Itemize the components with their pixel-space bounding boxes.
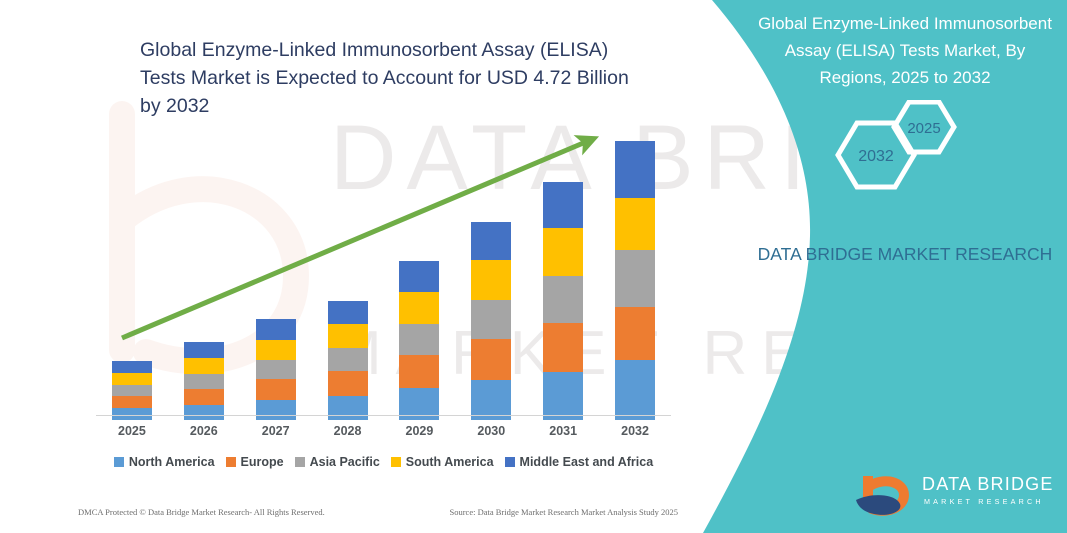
bar-segment [328, 324, 368, 348]
bar-segment [471, 300, 511, 339]
bar-stack [112, 361, 152, 420]
bar-column [240, 125, 312, 420]
bar-stack [399, 261, 439, 420]
bar-segment [543, 372, 583, 420]
bar-segment [543, 182, 583, 228]
x-axis-tick-label: 2032 [599, 424, 671, 438]
bar-segment [112, 385, 152, 396]
bar-segment [471, 339, 511, 380]
left-content: Global Enzyme-Linked Immunosorbent Assay… [0, 0, 700, 533]
legend-swatch-icon [505, 457, 515, 467]
panel-title: Global Enzyme-Linked Immunosorbent Assay… [755, 10, 1055, 91]
bar-segment [184, 358, 224, 374]
bar-segment [256, 340, 296, 360]
bar-segment [184, 342, 224, 358]
legend-item[interactable]: Asia Pacific [295, 455, 380, 469]
x-axis-tick-label: 2027 [240, 424, 312, 438]
bar-segment [543, 323, 583, 372]
x-axis-labels: 20252026202720282029203020312032 [96, 424, 671, 438]
bar-stack [615, 141, 655, 420]
bar-segment [615, 250, 655, 307]
bar-segment [184, 374, 224, 389]
bar-segment [543, 276, 583, 323]
legend-label: Europe [241, 455, 284, 469]
bar-segment [471, 260, 511, 300]
bar-segment [256, 379, 296, 400]
x-axis-tick-label: 2031 [527, 424, 599, 438]
legend-label: Middle East and Africa [520, 455, 654, 469]
legend-label: North America [129, 455, 215, 469]
legend-label: South America [406, 455, 494, 469]
x-axis-tick-label: 2025 [96, 424, 168, 438]
bar-segment [399, 324, 439, 355]
bar-segment [184, 389, 224, 405]
bar-segment [112, 361, 152, 373]
bar-segment [328, 396, 368, 420]
x-axis-tick-label: 2026 [168, 424, 240, 438]
bar-segment [112, 408, 152, 420]
x-axis-tick-label: 2029 [384, 424, 456, 438]
bar-column [527, 125, 599, 420]
bar-column [312, 125, 384, 420]
bar-column [96, 125, 168, 420]
bar-segment [112, 373, 152, 385]
footer-copyright: DMCA Protected © Data Bridge Market Rese… [78, 507, 325, 517]
bar-segment [184, 405, 224, 420]
bar-columns [96, 125, 671, 420]
footer-source: Source: Data Bridge Market Research Mark… [449, 507, 678, 517]
bar-segment [471, 222, 511, 260]
year-hexagon-group: 2032 2025 [800, 100, 1050, 210]
bar-stack [543, 182, 583, 420]
legend-swatch-icon [295, 457, 305, 467]
bar-segment [328, 348, 368, 371]
bar-stack [184, 342, 224, 420]
footer-bar: DMCA Protected © Data Bridge Market Rese… [78, 507, 678, 517]
logo-primary-text: DATA BRIDGE [922, 474, 1054, 495]
bar-segment [112, 396, 152, 408]
bar-segment [256, 360, 296, 379]
legend-item[interactable]: Europe [226, 455, 284, 469]
bar-segment [256, 400, 296, 420]
x-axis-line [96, 415, 671, 416]
bar-segment [615, 307, 655, 360]
legend-swatch-icon [114, 457, 124, 467]
legend-label: Asia Pacific [310, 455, 380, 469]
bar-segment [328, 301, 368, 324]
bar-segment [256, 319, 296, 340]
legend-swatch-icon [226, 457, 236, 467]
bar-stack [471, 222, 511, 420]
bar-column [599, 125, 671, 420]
bar-stack [328, 301, 368, 420]
chart-legend: North AmericaEuropeAsia PacificSouth Ame… [96, 455, 671, 469]
right-panel-content: Global Enzyme-Linked Immunosorbent Assay… [790, 0, 1067, 533]
bar-segment [615, 360, 655, 420]
bar-segment [543, 228, 583, 276]
bar-segment [399, 261, 439, 292]
x-axis-tick-label: 2028 [312, 424, 384, 438]
legend-item[interactable]: Middle East and Africa [505, 455, 654, 469]
bar-stack [256, 319, 296, 420]
bar-column [384, 125, 456, 420]
bar-column [455, 125, 527, 420]
hexagon-2025-label: 2025 [907, 120, 940, 137]
legend-item[interactable]: North America [114, 455, 215, 469]
bar-segment [615, 198, 655, 250]
brand-name: DATA BRIDGE MARKET RESEARCH [755, 240, 1055, 268]
page-title: Global Enzyme-Linked Immunosorbent Assay… [140, 36, 640, 120]
bar-segment [399, 292, 439, 324]
bar-segment [399, 355, 439, 388]
bar-segment [471, 380, 511, 420]
bar-segment [615, 141, 655, 198]
company-logo: DATA BRIDGE MARKET RESEARCH [850, 470, 1060, 520]
bar-chart [96, 120, 671, 420]
x-axis-tick-label: 2030 [455, 424, 527, 438]
bar-segment [328, 371, 368, 396]
legend-swatch-icon [391, 457, 401, 467]
legend-item[interactable]: South America [391, 455, 494, 469]
infographic-canvas: DATA BRIDGE MARKET RESEARCH Global Enzym… [0, 0, 1067, 533]
logo-secondary-text: MARKET RESEARCH [924, 497, 1044, 506]
bar-column [168, 125, 240, 420]
hexagon-2032-label: 2032 [858, 148, 894, 165]
